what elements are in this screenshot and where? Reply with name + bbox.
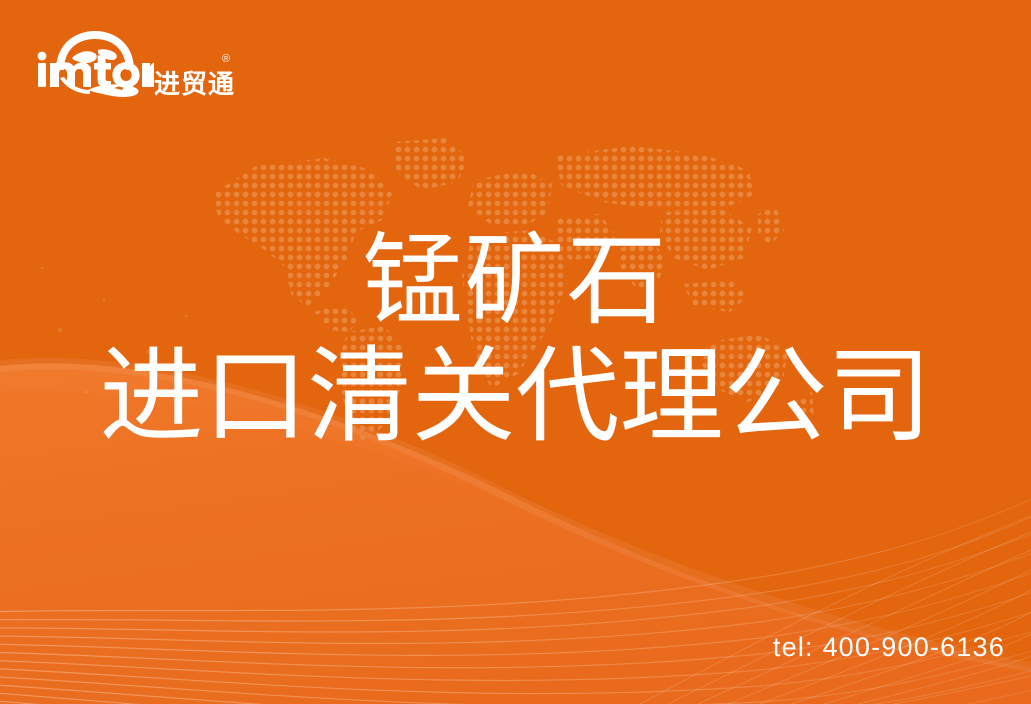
headline-line-secondary: 进口清关代理公司 — [0, 342, 1031, 452]
promotional-banner: 进贸通 ® 锰矿石 进口清关代理公司 tel: 400-900-6136 — [0, 0, 1031, 704]
page-title: 锰矿石 进口清关代理公司 — [0, 228, 1031, 452]
company-logo[interactable]: 进贸通 ® — [36, 28, 216, 102]
registered-trademark-icon: ® — [222, 54, 230, 65]
logo-chinese-brand: 进贸通 — [154, 71, 235, 97]
globe-logo-icon — [36, 28, 154, 102]
contact-phone[interactable]: tel: 400-900-6136 — [773, 632, 1005, 663]
headline-line-primary: 锰矿石 — [0, 228, 1031, 334]
